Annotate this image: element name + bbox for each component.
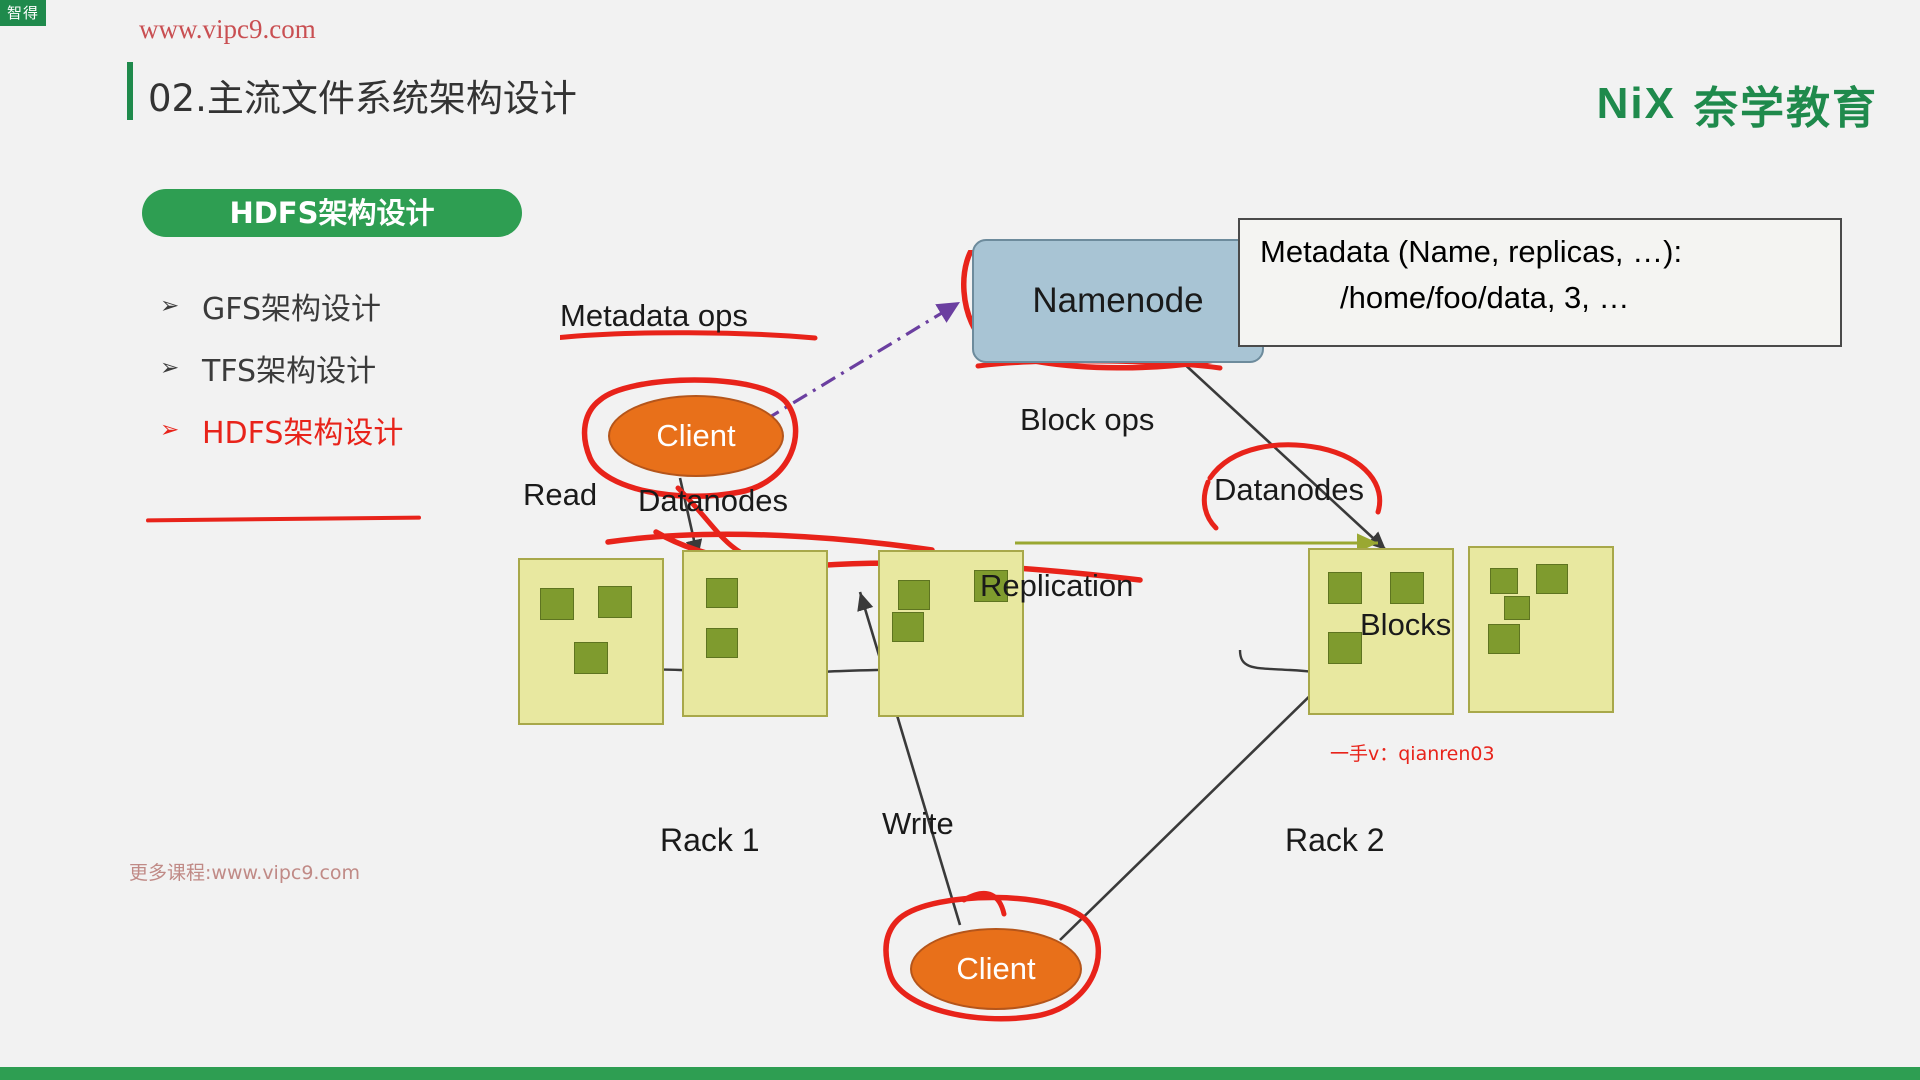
block bbox=[1390, 572, 1424, 604]
title-accent-bar bbox=[127, 62, 133, 120]
edge-label-write: Write bbox=[882, 806, 954, 842]
node-metadata-box: Metadata (Name, replicas, …): /home/foo/… bbox=[1238, 218, 1842, 347]
group-label-datanodes-right: Datanodes bbox=[1214, 472, 1364, 508]
annotation-underline bbox=[146, 516, 421, 523]
block bbox=[706, 578, 738, 608]
node-client-write: Client bbox=[910, 928, 1082, 1010]
slide-stage: 智得 www.vipc9.com 02.主流文件系统架构设计 NiX 奈学教育 … bbox=[0, 0, 1920, 1080]
node-datanode-2 bbox=[682, 550, 828, 717]
block bbox=[1328, 572, 1362, 604]
bullet-label: TFS架构设计 bbox=[202, 346, 376, 390]
logo-mark: NiX bbox=[1597, 79, 1676, 129]
bullet-marker-icon: ➢ bbox=[160, 355, 202, 381]
presentation-slide: 智得 www.vipc9.com 02.主流文件系统架构设计 NiX 奈学教育 … bbox=[0, 0, 1920, 1080]
metadata-line-1: Metadata (Name, replicas, …): bbox=[1260, 234, 1682, 270]
edge-label-read: Read bbox=[523, 477, 597, 513]
bullet-label: GFS架构设计 bbox=[202, 284, 381, 328]
block bbox=[1488, 624, 1520, 654]
bullet-marker-icon: ➢ bbox=[160, 293, 202, 319]
hdfs-architecture-diagram: Namenode Metadata (Name, replicas, …): /… bbox=[560, 250, 1900, 1060]
block bbox=[1504, 596, 1530, 620]
block bbox=[706, 628, 738, 658]
group-label-blocks: Blocks bbox=[1360, 607, 1451, 643]
logo-text: 奈学教育 bbox=[1694, 72, 1878, 136]
bullet-item-tfs[interactable]: ➢ TFS架构设计 bbox=[160, 337, 403, 399]
node-datanode-5 bbox=[1468, 546, 1614, 713]
edge-label-block-ops: Block ops bbox=[1020, 402, 1154, 438]
watermark-footer-url: 更多课程:www.vipc9.com bbox=[129, 858, 360, 885]
group-label-datanodes-left: Datanodes bbox=[638, 483, 788, 519]
bullet-item-gfs[interactable]: ➢ GFS架构设计 bbox=[160, 275, 403, 337]
group-label-rack2: Rack 2 bbox=[1285, 822, 1385, 859]
node-client-read: Client bbox=[608, 395, 784, 477]
node-client-write-label: Client bbox=[912, 930, 1080, 1008]
page-title: 02.主流文件系统架构设计 bbox=[148, 68, 577, 122]
block bbox=[892, 612, 924, 642]
block bbox=[598, 586, 632, 618]
block bbox=[574, 642, 608, 674]
bullet-marker-icon: ➢ bbox=[160, 417, 202, 443]
block bbox=[540, 588, 574, 620]
watermark-handle: 一手v：qianren03 bbox=[1330, 739, 1495, 766]
bullet-label: HDFS架构设计 bbox=[202, 408, 403, 452]
node-namenode-label: Namenode bbox=[974, 241, 1262, 361]
node-namenode: Namenode bbox=[972, 239, 1264, 363]
node-client-read-label: Client bbox=[610, 397, 782, 475]
block bbox=[1536, 564, 1568, 594]
group-label-rack1: Rack 1 bbox=[660, 822, 760, 859]
brand-logo: NiX 奈学教育 bbox=[1597, 72, 1878, 136]
block bbox=[1328, 632, 1362, 664]
watermark-top-url: www.vipc9.com bbox=[139, 14, 316, 45]
edge-label-metadata-ops: Metadata ops bbox=[560, 298, 748, 334]
bullet-item-hdfs[interactable]: ➢ HDFS架构设计 bbox=[160, 399, 403, 461]
edge-label-replication: Replication bbox=[980, 568, 1133, 604]
block bbox=[1490, 568, 1518, 594]
node-datanode-1 bbox=[518, 558, 664, 725]
bullet-list: ➢ GFS架构设计 ➢ TFS架构设计 ➢ HDFS架构设计 bbox=[160, 275, 403, 461]
section-pill: HDFS架构设计 bbox=[142, 189, 522, 237]
section-pill-label: HDFS架构设计 bbox=[142, 189, 522, 237]
footer-bar bbox=[0, 1067, 1920, 1080]
block bbox=[898, 580, 930, 610]
metadata-line-2: /home/foo/data, 3, … bbox=[1340, 280, 1630, 316]
watermark-badge: 智得 bbox=[0, 0, 46, 26]
